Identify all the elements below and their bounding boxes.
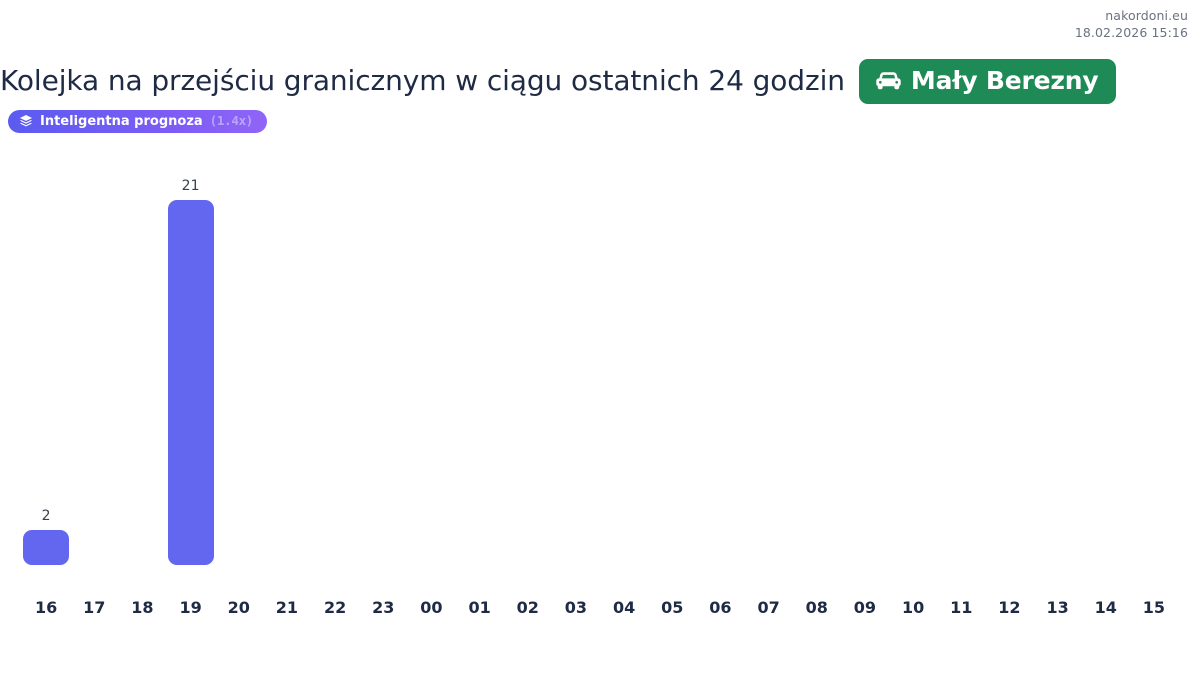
x-axis-tick: 18	[131, 600, 153, 616]
forecast-badge[interactable]: Inteligentna prognoza (1.4x)	[8, 110, 267, 133]
x-axis-tick: 12	[998, 600, 1020, 616]
station-badge-label: Mały Berezny	[911, 68, 1099, 93]
x-axis-tick: 13	[1046, 600, 1068, 616]
chart-plot-area: 221	[22, 160, 1178, 565]
x-axis-tick: 23	[372, 600, 394, 616]
car-icon	[875, 71, 902, 90]
forecast-multiplier: (1.4x)	[210, 115, 253, 128]
chart-bar-column[interactable]: 2	[22, 160, 70, 565]
x-axis-tick: 21	[276, 600, 298, 616]
layers-icon	[19, 114, 33, 128]
station-badge[interactable]: Mały Berezny	[859, 59, 1117, 104]
x-axis-tick: 19	[179, 600, 201, 616]
page-meta: nakordoni.eu 18.02.2026 15:16	[1075, 8, 1188, 41]
x-axis-tick: 17	[83, 600, 105, 616]
x-axis-tick: 07	[757, 600, 779, 616]
x-axis-tick: 11	[950, 600, 972, 616]
x-axis-tick: 03	[565, 600, 587, 616]
chart-bar[interactable]	[23, 530, 69, 565]
x-axis-tick: 01	[468, 600, 490, 616]
x-axis-tick: 16	[35, 600, 57, 616]
x-axis-tick: 15	[1143, 600, 1165, 616]
x-axis-tick: 10	[902, 600, 924, 616]
title-row: Kolejka na przejściu granicznym w ciągu …	[0, 56, 1200, 106]
x-axis-tick: 08	[806, 600, 828, 616]
x-axis-tick: 20	[228, 600, 250, 616]
timestamp: 18.02.2026 15:16	[1075, 25, 1188, 42]
chart-bar-column[interactable]: 21	[167, 160, 215, 565]
forecast-badge-label: Inteligentna prognoza	[40, 115, 203, 128]
x-axis-tick: 04	[613, 600, 635, 616]
bar-value-label: 2	[42, 509, 51, 523]
x-axis-tick: 00	[420, 600, 442, 616]
chart-bar[interactable]	[168, 200, 214, 565]
x-axis-tick: 14	[1095, 600, 1117, 616]
bar-value-label: 21	[182, 179, 200, 193]
x-axis-tick: 02	[517, 600, 539, 616]
x-axis-tick: 06	[709, 600, 731, 616]
page-title: Kolejka na przejściu granicznym w ciągu …	[0, 67, 845, 95]
queue-bar-chart: 221 161718192021222300010203040506070809…	[0, 160, 1200, 640]
x-axis-tick: 05	[661, 600, 683, 616]
x-axis-tick: 22	[324, 600, 346, 616]
site-name: nakordoni.eu	[1075, 8, 1188, 25]
chart-x-axis: 1617181920212223000102030405060708091011…	[22, 600, 1178, 630]
x-axis-tick: 09	[854, 600, 876, 616]
